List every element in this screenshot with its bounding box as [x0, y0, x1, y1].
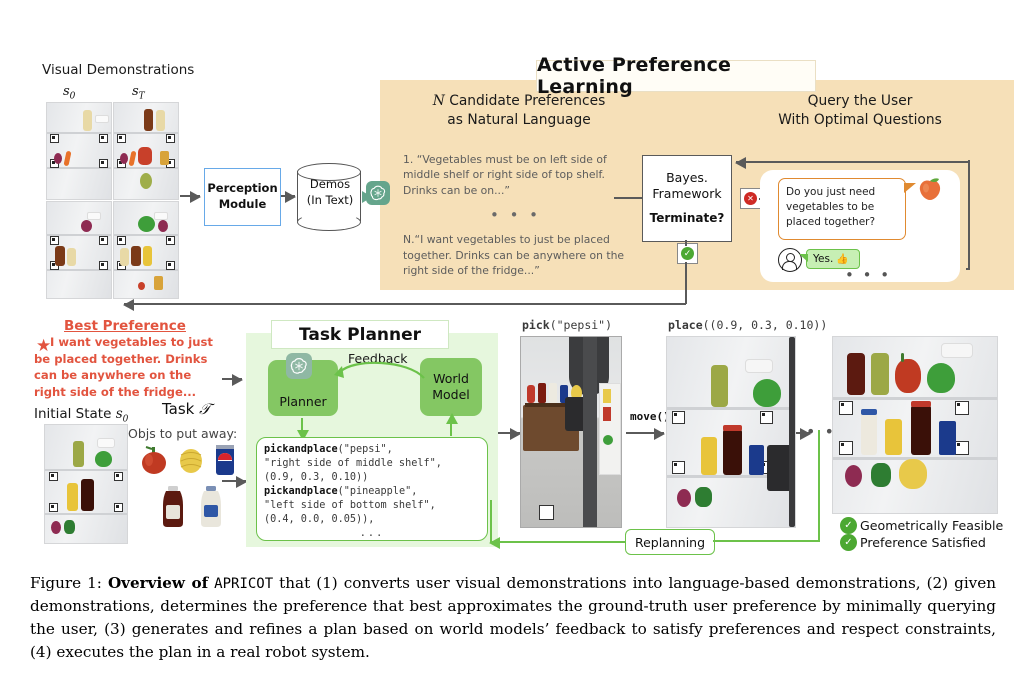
- ketchup-bottle-icon: [158, 485, 188, 529]
- status-label-1: Geometrically Feasible: [860, 518, 1003, 533]
- active-preference-learning-title: Active Preference Learning: [536, 60, 816, 92]
- caption-prefix: Figure 1:: [30, 574, 102, 592]
- planner-to-code-arrow: [301, 418, 303, 430]
- move-arrow: [626, 432, 664, 434]
- check-circle-icon: ✓: [840, 517, 857, 534]
- bayes-framework-box: Bayes. Framework Terminate?: [642, 155, 732, 242]
- thumbs-up-icon: 👍: [836, 254, 848, 265]
- perception-to-demos-arrow: [281, 195, 295, 197]
- loop-to-bayes-arrow: [736, 161, 968, 163]
- robot-pick-scene-photo: [520, 336, 622, 528]
- bayes-down-segment: [685, 262, 687, 304]
- state-final-sub: T: [139, 92, 145, 102]
- replanning-box: Replanning: [625, 529, 715, 555]
- chat-ellipsis: • • •: [845, 266, 891, 284]
- pick-action-label: pick("pepsi"): [522, 318, 612, 332]
- perception-line1: Perception: [207, 181, 277, 197]
- candidates-to-bayes-connector: [614, 197, 642, 199]
- candidate-header-line2: as Natural Language: [447, 112, 590, 128]
- mayo-bottle-icon: [196, 485, 226, 529]
- planner-to-execution-arrow: [498, 432, 520, 434]
- initial-state-fridge-photo: [44, 424, 128, 544]
- gpt-flow-arrow: [362, 191, 372, 203]
- state-initial-label: s0: [63, 84, 75, 102]
- task-symbol: 𝒯: [199, 400, 211, 418]
- caption-bold: Overview of: [108, 574, 208, 592]
- loop-bottom-stub: [966, 268, 970, 270]
- task-label-text: Task: [162, 400, 194, 418]
- demo-fridge-s0-row1: [46, 102, 112, 200]
- status-preference-satisfied: ✓ Preference Satisfied: [840, 534, 986, 551]
- demos-line2: (In Text): [297, 193, 363, 209]
- code-to-world-arrow: [450, 424, 452, 436]
- replanning-arrow: [490, 541, 626, 543]
- replanning-right-segment: [818, 430, 820, 541]
- world-model-line1: World: [432, 371, 470, 387]
- candidate-preference-1: 1. “Vegetables must be on left side of m…: [403, 152, 628, 198]
- candidate-preferences-list: 1. “Vegetables must be on left side of m…: [403, 152, 628, 278]
- pineapple-icon: [176, 445, 206, 475]
- candidates-ellipsis: • • •: [403, 205, 628, 226]
- red-bell-pepper-icon: [140, 443, 170, 475]
- initial-state-sym: s: [116, 406, 123, 422]
- openai-logo-icon: [286, 353, 312, 379]
- bayes-terminate-label: Terminate?: [650, 211, 725, 227]
- task-planner-title: Task Planner: [271, 320, 449, 349]
- demos-to-perception-arrow: [180, 195, 200, 197]
- objects-to-put-away-group: [140, 443, 244, 531]
- place-fn: place: [668, 318, 703, 332]
- demo-fridge-sT-row1: [113, 102, 179, 200]
- check-circle-icon: ✓: [840, 534, 857, 551]
- status-label-2: Preference Satisfied: [860, 535, 986, 550]
- state-initial-sym: s: [63, 84, 70, 99]
- demos-line1: Demos: [297, 177, 363, 193]
- visual-demonstrations-label: Visual Demonstrations: [42, 62, 194, 78]
- world-model-box: World Model: [420, 358, 482, 416]
- pepsi-can-icon: [213, 443, 237, 477]
- query-header-line2: With Optimal Questions: [778, 112, 942, 128]
- objects-to-put-away-label: Objs to put away:: [128, 426, 237, 441]
- state-final-sym: s: [132, 84, 139, 99]
- perception-module-box: Perception Module: [204, 168, 281, 226]
- peach-fruit-icon: [917, 175, 943, 201]
- query-header-line1: Query the User: [808, 93, 913, 109]
- best-preference-text: I want vegetables to just be placed toge…: [34, 334, 220, 401]
- planner-label: Planner: [279, 394, 326, 410]
- best-preference-title: Best Preference: [64, 318, 186, 334]
- avatar-body: [782, 261, 797, 270]
- initial-state-text: Initial State: [34, 406, 111, 422]
- feedback-arrow: [330, 362, 426, 388]
- demo-fridge-sT-row2: [113, 201, 179, 299]
- code-text: pickandplace("pepsi", "right side of mid…: [264, 444, 480, 542]
- demo-fridge-s0-row2: [46, 201, 112, 299]
- query-user-header: Query the User With Optimal Questions: [750, 92, 970, 129]
- status-geometrically-feasible: ✓ Geometrically Feasible: [840, 517, 1003, 534]
- best-preference-body: I want vegetables to just be placed toge…: [34, 335, 213, 399]
- x-mark-icon: ✕: [744, 192, 757, 205]
- gpt-flow-stub: [362, 194, 368, 196]
- task-to-planner-arrow: [222, 480, 246, 482]
- best-preference-arrow: [124, 303, 686, 305]
- state-initial-sub: 0: [70, 92, 76, 102]
- loop-right-segment: [968, 160, 970, 270]
- move-action-label: move(): [630, 410, 670, 423]
- place-args: ((0.9, 0.3, 0.10)): [703, 318, 828, 332]
- place-action-label: place((0.9, 0.3, 0.10)): [668, 318, 827, 332]
- candidate-count-symbol: N: [433, 93, 445, 109]
- terminate-no-chip: ✕: [740, 188, 761, 209]
- demos-cylinder: Demos (In Text): [297, 163, 361, 229]
- bayes-line2: Framework: [652, 186, 721, 202]
- pick-fn: pick: [522, 318, 550, 332]
- task-label: Task 𝒯: [162, 400, 211, 418]
- replanning-bottom-right: [713, 540, 820, 542]
- caption-system-name: APRICOT: [214, 576, 273, 592]
- bubble-tail: [904, 183, 916, 193]
- initial-state-label: Initial State s0: [34, 406, 128, 425]
- user-answer-text: Yes.: [813, 253, 833, 265]
- pick-args: ("pepsi"): [550, 318, 612, 332]
- candidate-header-line1: Candidate Preferences: [445, 93, 605, 109]
- perception-line2: Module: [219, 197, 267, 213]
- replanning-left-segment: [490, 500, 492, 542]
- bayes-line1: Bayes.: [666, 170, 708, 186]
- query-bubble-text: Do you just need vegetables to be placed…: [786, 186, 875, 228]
- final-state-fridge-photo: [832, 336, 998, 514]
- candidate-preferences-header: N Candidate Preferences as Natural Langu…: [404, 92, 634, 129]
- figure-caption: Figure 1: Overview of APRICOT that (1) c…: [30, 572, 996, 665]
- terminate-yes-chip: ✓: [677, 243, 698, 264]
- robot-place-scene-photo: [666, 336, 796, 528]
- check-mark-icon: ✓: [681, 247, 694, 260]
- candidate-preference-n: N.“I want vegetables to just be placed t…: [403, 232, 628, 278]
- generated-plan-code: pickandplace("pepsi", "right side of mid…: [256, 437, 488, 541]
- answer-bubble-tail: [799, 254, 808, 262]
- bayes-down-stub: [685, 240, 687, 246]
- replanning-label: Replanning: [635, 535, 705, 550]
- world-model-line2: Model: [432, 387, 470, 403]
- state-final-label: sT: [132, 84, 145, 102]
- query-speech-bubble: Do you just need vegetables to be placed…: [778, 178, 906, 240]
- preference-to-planner-arrow: [222, 378, 242, 380]
